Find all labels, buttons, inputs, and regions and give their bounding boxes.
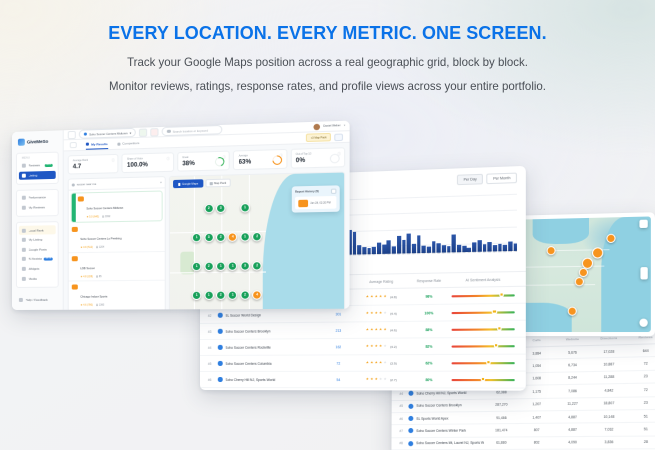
- rank-badge: [72, 227, 78, 232]
- table-row[interactable]: #8Soho Soccer Centers Mt, Laurel NJ, Spo…: [391, 436, 655, 450]
- rank-badge: [72, 256, 78, 261]
- rating-value: ★ 5.0 (640): [86, 215, 99, 218]
- chart-bar[interactable]: [362, 247, 366, 255]
- great-lakes: [532, 218, 589, 244]
- row-index: #5: [208, 361, 218, 365]
- nav-icon: [22, 267, 26, 271]
- star-icon: ★: [366, 328, 369, 332]
- directions-value: 3,836: [591, 440, 628, 444]
- website-value: 5,676: [555, 350, 591, 355]
- map-tab-map-pack[interactable]: Map Pack: [205, 179, 231, 188]
- location-name: Soho Soccer Centers Mt, Laurel NJ, Sport…: [416, 441, 484, 445]
- star-icon: ★: [379, 378, 382, 382]
- chart-bar[interactable]: [357, 245, 361, 255]
- sentiment-bar: [452, 345, 515, 347]
- fullscreen-icon[interactable]: [639, 319, 647, 327]
- x-tick-label: Jan 23: [462, 252, 466, 259]
- rank-grid-marker[interactable]: 2: [216, 232, 226, 241]
- response-rate-value: 62%: [409, 361, 450, 365]
- rank-grid-marker[interactable]: 2: [216, 290, 226, 299]
- response-rate-value: 80%: [409, 377, 450, 381]
- location-name: Soho Cherry Hill NJ, Sports World: [416, 390, 484, 395]
- chart-bar[interactable]: [508, 241, 512, 251]
- kpi-value: 4.7: [73, 163, 114, 170]
- dashboard-lower: soccer near me ▾ Soho Soccer Centers Mid…: [64, 172, 350, 310]
- chart-bar[interactable]: [407, 234, 411, 253]
- chart-bar[interactable]: [377, 242, 381, 254]
- chart-bar[interactable]: [482, 244, 486, 252]
- tab-label: Competitors: [122, 141, 139, 146]
- chart-bar[interactable]: [442, 245, 446, 253]
- sidebar-item-listing[interactable]: Listing: [19, 170, 56, 180]
- rank-badge: [78, 196, 84, 201]
- star-icon: ★: [379, 361, 382, 365]
- reviews-value: 72: [627, 361, 655, 366]
- rating-value: (4.4): [390, 311, 397, 315]
- x-tick-label: Jan 12: [407, 253, 411, 260]
- rank-grid-marker[interactable]: 1: [192, 290, 201, 299]
- sidebar-item-label: Performance: [28, 196, 52, 201]
- nav-icon: [22, 228, 26, 232]
- rank-grid-marker[interactable]: 3: [216, 203, 226, 213]
- highlight-flag: [72, 194, 76, 222]
- row-index: #4: [400, 392, 409, 396]
- report-history-title: Report History (5): [295, 190, 319, 194]
- star-icon: ★: [370, 378, 373, 382]
- x-tick-label: Jan 13: [412, 253, 416, 260]
- rank-grid-marker[interactable]: 1: [240, 203, 250, 213]
- row-index: #3: [208, 329, 218, 333]
- website-value: 6,734: [555, 363, 591, 368]
- tab-label: My Results: [91, 142, 108, 147]
- website-value: 8,244: [555, 376, 591, 381]
- star-icon: ★: [375, 328, 378, 332]
- rating-value: (4.6): [390, 328, 397, 332]
- rating-stars: ★★★★★(4.2): [354, 344, 409, 348]
- impressions-value: 91,466: [484, 415, 519, 419]
- chevron-down-icon: ▾: [130, 131, 131, 135]
- x-tick-label: Jan 04: [367, 254, 371, 261]
- keyword-filter[interactable]: soccer near me ▾: [69, 177, 165, 191]
- chart-bar[interactable]: [392, 246, 396, 254]
- sidebar-group-2: PerformanceMy Reviews: [16, 189, 59, 217]
- star-icon: ★: [370, 295, 373, 299]
- sidebar-item-performance[interactable]: Performance: [19, 193, 56, 202]
- star-icon: ★: [366, 378, 369, 382]
- sidebar-badge: BETA: [44, 257, 53, 260]
- chart-bar[interactable]: [452, 235, 456, 253]
- star-icon: ★: [366, 295, 369, 299]
- sentiment-gauge[interactable]: [449, 291, 517, 299]
- sidebar: GiveMeSo MENU ReviewsNEWListing Performa…: [12, 130, 64, 310]
- table-row[interactable]: #6Soho Cherry Hill NJ, Sports World54★★★…: [200, 372, 526, 389]
- local-rank-map[interactable]: Google Maps Map Pack 2311324121211321121…: [169, 172, 345, 310]
- chart-bar[interactable]: [382, 244, 386, 254]
- sidebar-item-media[interactable]: Media: [19, 274, 56, 283]
- rank-grid-marker[interactable]: 1: [240, 232, 250, 241]
- rating-stars: ★★★★★(3.9): [354, 361, 409, 365]
- reviews-value: 51: [627, 427, 655, 432]
- sidebar-item-label: Listing: [28, 173, 52, 178]
- back-button[interactable]: [70, 142, 77, 148]
- main-dashboard-window: GiveMeSo MENU ReviewsNEWListing Performa…: [12, 121, 350, 310]
- sidebar-item-label: Media: [28, 276, 52, 280]
- website-value: 4,887: [555, 415, 591, 420]
- help-icon: [19, 298, 23, 302]
- nav-icon: [22, 196, 26, 200]
- nav-icon: [22, 164, 26, 168]
- star-icon: ★: [383, 328, 386, 332]
- kpi-card-average-rank[interactable]: ⓘAverage Rank4.7: [68, 154, 119, 175]
- cluster-marker[interactable]: [579, 268, 588, 277]
- sidebar-item-my-reviews[interactable]: My Reviews: [19, 203, 56, 212]
- star-icon: ★: [366, 361, 369, 365]
- x-tick-label: Jan 15: [422, 253, 426, 260]
- x-tick-label: Jan 19: [442, 252, 446, 259]
- column-header[interactable]: Directions: [591, 336, 628, 341]
- rank-grid-marker[interactable]: 2: [204, 204, 213, 213]
- refresh-icon[interactable]: [151, 128, 159, 136]
- search-bar[interactable]: Search location or keyword: [162, 125, 223, 136]
- x-tick-label: Jan 01: [353, 254, 357, 261]
- sidebar-item-local-rank[interactable]: Local Rank: [19, 226, 56, 235]
- list-item[interactable]: Soho Soccer Centers Lo Pershing★ 4.9 (51…: [69, 223, 165, 253]
- review-count: ▤ 1204: [96, 246, 104, 249]
- ranking-list: Soho Soccer Centers Midtown★ 5.0 (640)▤ …: [69, 191, 165, 310]
- location-name: Soho Soccer Centers Brooklyn: [225, 328, 323, 333]
- sentiment-marker: [497, 326, 502, 330]
- report-history-item[interactable]: Jan 28, 02:20 PM: [295, 196, 336, 209]
- menu-toggle-icon[interactable]: [68, 130, 76, 138]
- location-name: Soho Soccer Centers Columbia: [225, 361, 323, 365]
- nav-icon: [22, 257, 26, 261]
- row-index: #8: [399, 441, 408, 445]
- location-name: SL Sports World Apex: [416, 416, 484, 421]
- sentiment-marker: [499, 292, 504, 296]
- rank-grid-marker[interactable]: 2: [240, 290, 250, 299]
- review-count: ▤ 1360: [96, 304, 104, 307]
- zoom-controls[interactable]: [640, 267, 647, 279]
- sentiment-marker: [493, 343, 498, 347]
- reviews-value: 23: [627, 374, 655, 379]
- chart-bar[interactable]: [472, 242, 476, 252]
- x-tick-label: Jan 22: [457, 252, 461, 259]
- kpi-label: Share of Voice: [127, 157, 169, 161]
- sidebar-item-help[interactable]: Help / Feedback: [16, 295, 59, 304]
- col-response-rate[interactable]: Response Rate: [409, 279, 450, 284]
- star-icon: ★: [379, 295, 382, 299]
- rating-stars: ★★★★★(4.6): [354, 328, 409, 333]
- review-count: ▤ 85: [96, 275, 102, 278]
- calls-value: 802: [519, 441, 555, 445]
- rank-grid-marker[interactable]: 1: [216, 261, 226, 270]
- total-period-value: 162: [323, 345, 354, 349]
- sidebar-item-my-listing[interactable]: My Listing: [19, 235, 56, 244]
- location-pin-icon: [84, 133, 87, 136]
- sentiment-gauge[interactable]: [449, 359, 517, 367]
- sidebar-footer[interactable]: Help / Feedback: [16, 295, 59, 305]
- kpi-card-great[interactable]: ⓘGreat38%: [177, 151, 230, 172]
- google-icon[interactable]: [139, 128, 147, 136]
- chart-bar[interactable]: [353, 232, 357, 255]
- sentiment-bar: [452, 311, 515, 313]
- location-name: Soho Soccer Centers Winter Park: [416, 428, 484, 433]
- sidebar-caption: MENU: [22, 156, 56, 160]
- star-icon: ★: [375, 378, 378, 382]
- rank-badge: [72, 284, 78, 289]
- chart-bar[interactable]: [422, 245, 426, 253]
- total-period-value: 54: [323, 377, 354, 381]
- directions-value: 17,028: [591, 349, 628, 354]
- row-index: #7: [399, 429, 408, 433]
- star-icon: ★: [383, 295, 386, 299]
- x-tick-label: Feb 01: [508, 251, 512, 258]
- filter-value: soccer near me: [77, 181, 158, 187]
- star-icon: ★: [366, 345, 369, 349]
- website-value: 4,090: [555, 440, 591, 444]
- map-view-tabs[interactable]: Google Maps Map Pack: [173, 179, 231, 189]
- total-period-value: 72: [323, 361, 354, 365]
- search-icon: [167, 130, 170, 133]
- sentiment-gauge[interactable]: [449, 376, 517, 383]
- subtitle-line-1: Track your Google Maps position across a…: [3, 56, 651, 69]
- nav-icon: [22, 277, 26, 281]
- location-pin-icon: [218, 329, 222, 334]
- rank-grid-marker[interactable]: 4: [252, 290, 262, 299]
- chart-bar[interactable]: [372, 246, 376, 254]
- sentiment-gauge[interactable]: [449, 342, 517, 350]
- rating-stars: ★★★★★(2.7): [354, 377, 409, 381]
- sidebar-item-google-posts[interactable]: Google Posts: [19, 245, 56, 254]
- x-tick-label: Jan 09: [392, 254, 396, 261]
- directions-value: 4,842: [591, 388, 628, 393]
- table-row[interactable]: #7Soho Soccer Centers Winter Park St, So…: [200, 388, 526, 391]
- row-index: #5: [400, 404, 409, 408]
- kpi-card-share-of-voice[interactable]: ⓘShare of Voice100.0%: [122, 152, 174, 173]
- nav-icon: [22, 174, 26, 178]
- chart-bar[interactable]: [417, 236, 421, 254]
- star-icon: ★: [370, 361, 373, 365]
- location-pin-icon: [218, 345, 222, 350]
- website-value: 11,227: [555, 402, 591, 407]
- chart-bar[interactable]: [513, 243, 517, 251]
- rank-grid-marker[interactable]: 1: [204, 290, 213, 299]
- sidebar-item-reviews[interactable]: ReviewsNEW: [19, 161, 56, 171]
- results-icon: [86, 143, 89, 146]
- chart-bar[interactable]: [488, 242, 492, 252]
- x-tick-label: Jan 16: [427, 253, 431, 260]
- chart-bar[interactable]: [477, 240, 481, 252]
- sidebar-item-ai-assistant[interactable]: AI AssistantBETA: [19, 255, 56, 264]
- directions-value: 11,288: [591, 375, 628, 380]
- rank-grid-marker[interactable]: 3: [204, 233, 213, 242]
- cluster-marker[interactable]: [546, 246, 555, 255]
- chart-bar[interactable]: [412, 244, 416, 254]
- credits-button[interactable]: +3 Map Pack: [306, 133, 331, 142]
- map-tab-google-maps[interactable]: Google Maps: [173, 179, 203, 188]
- star-icon: ★: [375, 312, 378, 316]
- star-icon: ★: [366, 312, 369, 316]
- impressions-value: 287,270: [484, 403, 519, 408]
- settings-icon[interactable]: [334, 133, 343, 141]
- sentiment-gauge[interactable]: [449, 325, 517, 333]
- nav-icon: [22, 206, 26, 210]
- x-tick-label: Jan 11: [402, 253, 406, 260]
- hero-header: EVERY LOCATION. EVERY METRIC. ONE SCREEN…: [0, 0, 655, 93]
- chart-bar[interactable]: [387, 240, 391, 254]
- kpi-card-out-of-top-10[interactable]: ⓘOut of Top 100%: [290, 147, 345, 169]
- report-history-popup[interactable]: Report History (5) Jan 28, 02:20 PM: [292, 186, 340, 213]
- rating-stars: ★★★★★(4.8): [354, 294, 409, 299]
- star-icon: ★: [375, 295, 378, 299]
- location-name: Soho Soccer Centers Brooklyn: [416, 403, 484, 408]
- list-item[interactable]: Chicago Indoor Sports★ 4.6 (780)▤ 1360: [69, 281, 165, 310]
- sentiment-marker: [486, 360, 491, 364]
- report-date: Jan 28, 02:20 PM: [310, 201, 330, 205]
- rating-value: ★ 4.6 (780): [80, 304, 93, 307]
- response-rate-value: 100%: [409, 310, 450, 315]
- star-icon: ★: [383, 345, 386, 349]
- table-row[interactable]: #5Soho Soccer Centers Columbia72★★★★★(3.…: [200, 355, 526, 372]
- star-icon: ★: [370, 328, 373, 332]
- sidebar-item-widgets[interactable]: Widgets: [19, 264, 56, 273]
- location-pin-icon: [408, 391, 413, 396]
- us-map-canvas[interactable]: [507, 216, 651, 332]
- app-logo[interactable]: GiveMeSo: [18, 137, 59, 145]
- rating-value: (3.9): [390, 361, 397, 365]
- listing-title: Chicago Indoor Sports: [80, 295, 107, 298]
- map-icon: [178, 183, 181, 186]
- row-index: #6: [399, 417, 408, 421]
- chevron-down-icon: ▾: [160, 180, 161, 184]
- chart-bar[interactable]: [397, 236, 401, 253]
- location-pin-icon: [408, 441, 413, 446]
- x-tick-label: Jan 08: [387, 254, 391, 261]
- impressions-value: 61,880: [484, 441, 519, 445]
- sidebar-group-3: Local RankMy ListingGoogle PostsAI Assis…: [16, 222, 59, 288]
- location-selector[interactable]: Soho Soccer Centers Midtown ▾: [79, 128, 136, 139]
- x-tick-label: Jan 27: [482, 252, 486, 259]
- rating-value: ★ 4.9 (512): [80, 246, 93, 249]
- directions-value: 18,807: [591, 401, 628, 406]
- cluster-marker[interactable]: [568, 307, 577, 316]
- x-tick-label: Jan 03: [362, 254, 366, 261]
- rating-value: (4.8): [390, 295, 397, 299]
- x-tick-label: Jan 14: [417, 253, 421, 260]
- col-ai-sentiment[interactable]: AI Sentiment Analysis: [449, 277, 517, 282]
- list-item[interactable]: LDB Soccer★ 4.8 (228)▤ 85: [69, 252, 165, 282]
- chart-bar[interactable]: [457, 244, 461, 252]
- kpi-label: Average Rank: [73, 158, 114, 162]
- star-icon: ★: [383, 311, 386, 315]
- reviews-value: 23: [627, 401, 655, 406]
- x-tick-label: Jan 10: [397, 254, 401, 261]
- sentiment-gauge[interactable]: [449, 308, 517, 316]
- chart-bar[interactable]: [498, 243, 502, 251]
- competitors-icon: [117, 142, 120, 145]
- rank-grid-marker[interactable]: 3: [240, 261, 250, 270]
- close-icon[interactable]: [331, 189, 336, 194]
- chevron-down-icon[interactable]: ▾: [344, 124, 345, 127]
- location-pin-icon: [408, 416, 413, 421]
- list-item[interactable]: Soho Soccer Centers Midtown★ 5.0 (640)▤ …: [71, 191, 163, 223]
- toggle-per-month[interactable]: Per Month: [487, 173, 517, 185]
- info-icon[interactable]: ⓘ: [112, 158, 115, 162]
- response-rate-value: 82%: [409, 344, 450, 348]
- directions-value: 7,032: [591, 427, 628, 432]
- star-icon: ★: [379, 312, 382, 316]
- chart-bar[interactable]: [432, 241, 436, 253]
- website-value: 4,887: [555, 427, 591, 431]
- x-tick-label: Jan 02: [357, 254, 361, 261]
- toggle-per-day[interactable]: Per Day: [457, 174, 483, 185]
- reviews-value: 51: [627, 414, 655, 419]
- rank-grid-marker[interactable]: 1: [192, 262, 201, 271]
- star-icon: ★: [370, 345, 373, 349]
- layers-icon[interactable]: [639, 220, 647, 228]
- location-name: Soho Soccer Centers Midtown: [89, 131, 127, 136]
- column-header[interactable]: Website: [555, 337, 591, 342]
- kpi-card-average[interactable]: ⓘAverage63%: [233, 149, 287, 170]
- col-average-rating[interactable]: Average Rating: [354, 279, 409, 284]
- reviews-value: 28: [627, 440, 655, 444]
- location-pin-icon: [218, 377, 222, 382]
- sentiment-marker: [492, 309, 497, 313]
- reviews-value: 72: [627, 387, 655, 392]
- row-index: #6: [208, 377, 218, 381]
- user-name: Daniel Weber: [323, 124, 340, 128]
- rating-value: (4.2): [390, 344, 397, 348]
- rank-grid-marker[interactable]: 2: [204, 261, 213, 270]
- chart-bar[interactable]: [402, 240, 406, 254]
- subtitle-line-2: Monitor reviews, ratings, response rates…: [3, 80, 651, 93]
- sentiment-bar: [452, 294, 515, 297]
- dashboard-main: Soho Soccer Centers Midtown ▾ Search loc…: [64, 121, 350, 310]
- chart-period-toggle[interactable]: Per Day Per Month: [457, 173, 517, 186]
- x-tick-label: Jan 21: [452, 252, 456, 259]
- location-pin-icon: [218, 361, 222, 366]
- directions-value: 10,148: [591, 414, 628, 419]
- star-icon: ★: [383, 378, 386, 382]
- nav-icon: [22, 248, 26, 252]
- x-tick-label: Jan 25: [472, 252, 476, 259]
- x-tick-label: Jan 05: [372, 254, 376, 261]
- x-tick-label: Jan 28: [488, 251, 492, 258]
- nav-icon: [22, 238, 26, 242]
- report-thumbnail-icon: [298, 199, 308, 207]
- avatar[interactable]: [314, 123, 321, 130]
- response-rate-value: 98%: [409, 294, 450, 299]
- sidebar-group-menu: MENU ReviewsNEWListing: [16, 152, 59, 185]
- logo-icon: [18, 139, 25, 146]
- total-period-value: 301: [323, 312, 354, 316]
- sidebar-item-label: My Reviews: [28, 205, 52, 210]
- info-icon[interactable]: ⓘ: [167, 157, 170, 161]
- rating-stars: ★★★★★(4.4): [354, 311, 409, 316]
- listing-title: LDB Soccer: [80, 267, 95, 270]
- chart-bar[interactable]: [437, 243, 441, 253]
- filter-icon: [72, 183, 75, 186]
- tab-my-results[interactable]: My Results: [86, 139, 108, 150]
- listing-title: Soho Soccer Centers Midtown: [86, 206, 123, 210]
- tab-competitors[interactable]: Competitors: [117, 139, 139, 149]
- row-index: #4: [208, 345, 218, 349]
- rating-value: (2.7): [390, 377, 397, 381]
- sidebar-item-label: My Listing: [28, 238, 52, 242]
- x-tick-label: Jan 06: [377, 254, 381, 261]
- table-row[interactable]: #4Soho Soccer Centers Rockville162★★★★★(…: [200, 338, 526, 356]
- sentiment-bar: [452, 328, 515, 330]
